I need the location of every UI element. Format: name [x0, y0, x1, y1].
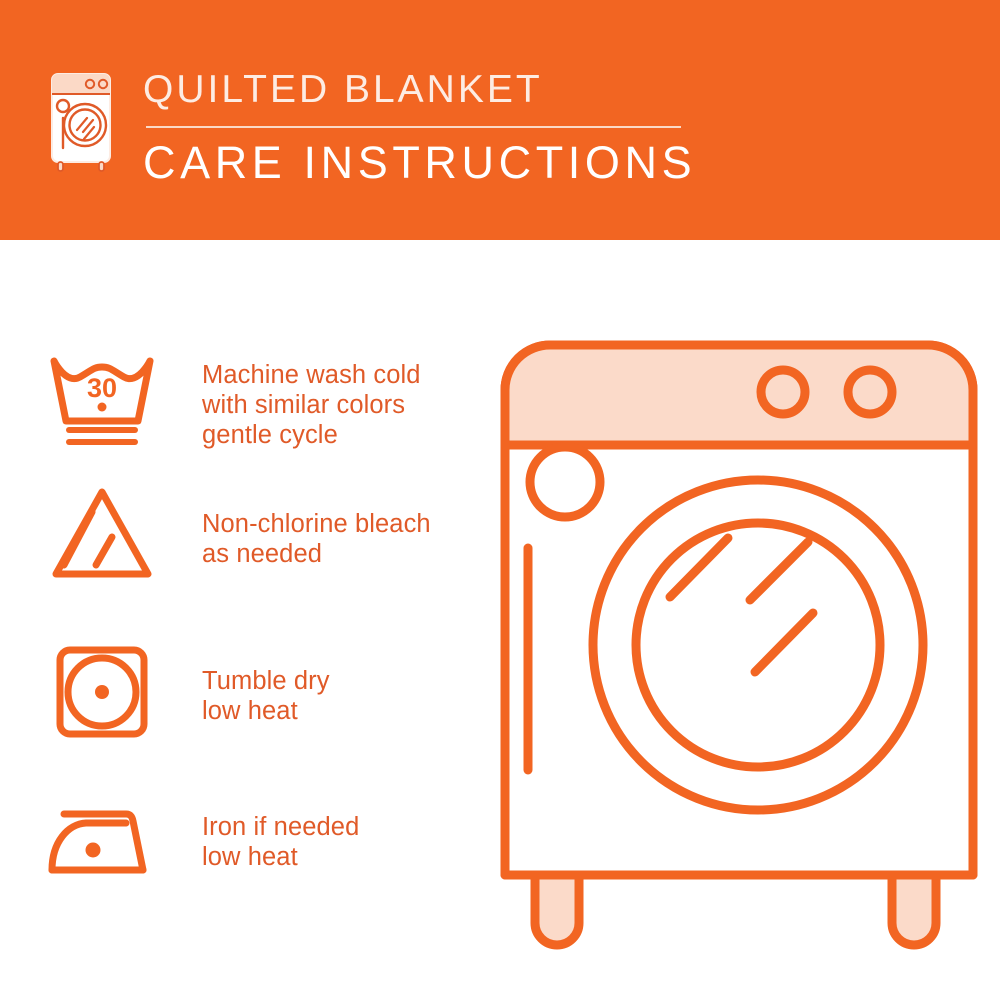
care-item-iron-label: Iron if needed low heat — [202, 790, 359, 872]
knob-right — [848, 370, 892, 414]
washing-machine-illustration — [480, 300, 990, 960]
care-item-iron: Iron if needed low heat — [0, 790, 480, 896]
care-item-machine-wash: 30 Machine wash cold with similar colors… — [0, 345, 480, 451]
top-control-panel — [505, 345, 973, 445]
tumble-dry-icon — [44, 640, 160, 746]
care-instruction-list: 30 Machine wash cold with similar colors… — [0, 240, 480, 1000]
foot-right — [892, 875, 936, 945]
iron-icon — [44, 790, 160, 896]
care-item-bleach-label: Non-chlorine bleach as needed — [202, 482, 431, 569]
care-item-bleach: Non-chlorine bleach as needed — [0, 482, 480, 588]
care-item-machine-wash-label: Machine wash cold with similar colors ge… — [202, 345, 421, 450]
header-banner: QUILTED BLANKET CARE INSTRUCTIONS — [0, 0, 1000, 240]
care-text-line: Tumble dry — [202, 666, 330, 696]
wash-tub-icon: 30 — [44, 345, 160, 451]
product-title: QUILTED BLANKET — [143, 66, 743, 114]
knob-left — [761, 370, 805, 414]
care-text-line: low heat — [202, 696, 330, 726]
washing-machine-icon — [44, 68, 120, 176]
care-text-line: Machine wash cold — [202, 360, 421, 390]
care-text-line: low heat — [202, 842, 359, 872]
care-item-tumble-dry-label: Tumble dry low heat — [202, 640, 330, 726]
care-instructions-page: QUILTED BLANKET CARE INSTRUCTIONS 30 — [0, 0, 1000, 1000]
title-divider — [146, 126, 681, 128]
care-text-line: Iron if needed — [202, 812, 359, 842]
care-text-line: gentle cycle — [202, 420, 421, 450]
bleach-triangle-icon — [44, 482, 160, 588]
care-text-line: with similar colors — [202, 390, 421, 420]
wash-temperature-label: 30 — [87, 373, 117, 403]
page-title: CARE INSTRUCTIONS — [143, 137, 743, 189]
care-text-line: Non-chlorine bleach — [202, 509, 431, 539]
care-text-line: as needed — [202, 539, 431, 569]
header-title-block: QUILTED BLANKET CARE INSTRUCTIONS — [143, 66, 743, 189]
foot-left — [535, 875, 579, 945]
care-item-tumble-dry: Tumble dry low heat — [0, 640, 480, 746]
